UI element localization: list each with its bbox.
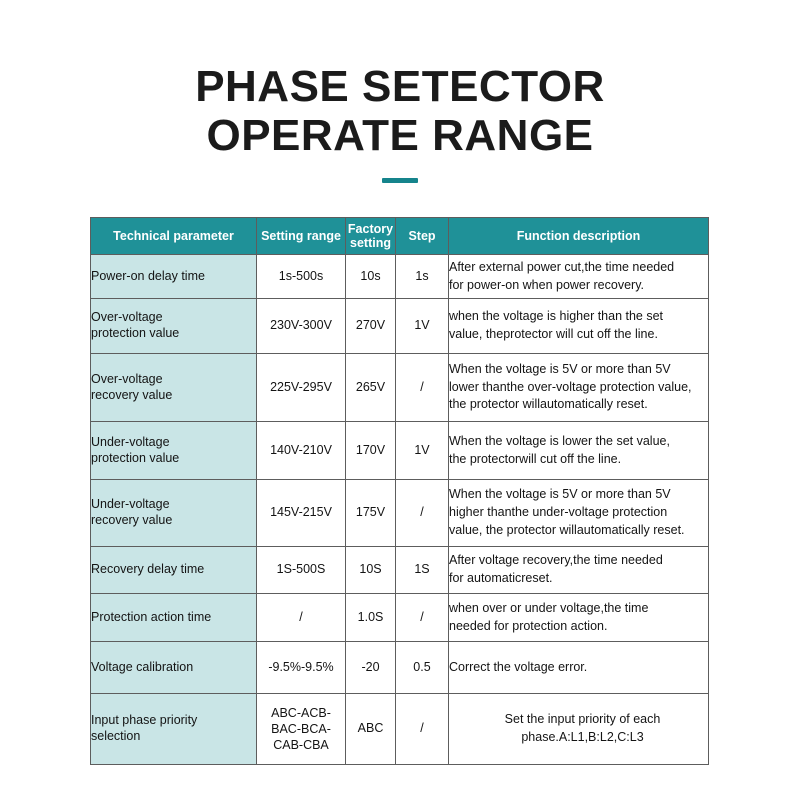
specification-table: Technical parameter Setting range Factor… bbox=[90, 217, 709, 765]
description-line-2: lower thanthe over-voltage protection va… bbox=[449, 379, 708, 397]
cell-description: When the voltage is lower the set value,… bbox=[449, 422, 709, 480]
cell-setting-range: 1S-500S bbox=[257, 547, 346, 594]
column-header-setting-range: Setting range bbox=[257, 218, 346, 255]
cell-step: / bbox=[396, 694, 449, 765]
setting-range-line-3: CAB-CBA bbox=[257, 737, 345, 753]
parameter-line-2: recovery value bbox=[91, 388, 256, 404]
description-line-1: Set the input priority of each bbox=[457, 711, 708, 729]
cell-parameter: Input phase priority selection bbox=[91, 694, 257, 765]
description-line-2: for power-on when power recovery. bbox=[449, 277, 708, 295]
parameter-line-2: selection bbox=[91, 729, 256, 745]
description-line-3: value, the protector willautomatically r… bbox=[449, 522, 708, 540]
cell-factory-setting: ABC bbox=[346, 694, 396, 765]
column-header-technical-parameter: Technical parameter bbox=[91, 218, 257, 255]
cell-parameter: Recovery delay time bbox=[91, 547, 257, 594]
setting-range-line-2: BAC-BCA- bbox=[257, 721, 345, 737]
description-line-2: phase.A:L1,B:L2,C:L3 bbox=[457, 729, 708, 747]
title-accent-bar bbox=[382, 178, 418, 183]
page-title-line-2: OPERATE RANGE bbox=[0, 111, 800, 160]
description-line-2: needed for protection action. bbox=[449, 618, 708, 636]
description-line-1: Correct the voltage error. bbox=[449, 659, 708, 677]
cell-description: Set the input priority of each phase.A:L… bbox=[449, 694, 709, 765]
cell-description: When the voltage is 5V or more than 5V l… bbox=[449, 354, 709, 422]
cell-step: 0.5 bbox=[396, 642, 449, 694]
cell-factory-setting: 265V bbox=[346, 354, 396, 422]
table-row: Under-voltage recovery value 145V-215V 1… bbox=[91, 480, 709, 547]
cell-description: Correct the voltage error. bbox=[449, 642, 709, 694]
table-body: Power-on delay time 1s-500s 10s 1s After… bbox=[91, 255, 709, 765]
table-row: Voltage calibration -9.5%-9.5% -20 0.5 C… bbox=[91, 642, 709, 694]
title-block: PHASE SETECTOR OPERATE RANGE bbox=[0, 0, 800, 183]
cell-step: 1V bbox=[396, 422, 449, 480]
table-row: Protection action time / 1.0S / when ove… bbox=[91, 594, 709, 642]
parameter-line-1: Under-voltage bbox=[91, 497, 256, 513]
cell-setting-range: 145V-215V bbox=[257, 480, 346, 547]
cell-step: / bbox=[396, 480, 449, 547]
cell-factory-setting: 10S bbox=[346, 547, 396, 594]
parameter-line-1: Over-voltage bbox=[91, 310, 256, 326]
table-row: Input phase priority selection ABC-ACB- … bbox=[91, 694, 709, 765]
cell-parameter: Under-voltage protection value bbox=[91, 422, 257, 480]
page-root: PHASE SETECTOR OPERATE RANGE Technical p… bbox=[0, 0, 800, 800]
description-line-1: when the voltage is higher than the set bbox=[449, 308, 708, 326]
parameter-line-2: protection value bbox=[91, 451, 256, 467]
cell-description: when the voltage is higher than the set … bbox=[449, 299, 709, 354]
description-line-3: the protector willautomatically reset. bbox=[449, 396, 708, 414]
parameter-line-1: Over-voltage bbox=[91, 372, 256, 388]
column-header-step: Step bbox=[396, 218, 449, 255]
cell-description: When the voltage is 5V or more than 5V h… bbox=[449, 480, 709, 547]
parameter-line-1: Input phase priority bbox=[91, 713, 256, 729]
page-title-line-1: PHASE SETECTOR bbox=[0, 62, 800, 111]
description-line-2: higher thanthe under-voltage protection bbox=[449, 504, 708, 522]
cell-factory-setting: 270V bbox=[346, 299, 396, 354]
parameter-line-1: Power-on delay time bbox=[91, 269, 256, 285]
cell-description: when over or under voltage,the time need… bbox=[449, 594, 709, 642]
cell-factory-setting: 10s bbox=[346, 255, 396, 299]
cell-parameter: Under-voltage recovery value bbox=[91, 480, 257, 547]
cell-step: 1s bbox=[396, 255, 449, 299]
description-line-2: for automaticreset. bbox=[449, 570, 708, 588]
description-line-2: value, theprotector will cut off the lin… bbox=[449, 326, 708, 344]
parameter-line-1: Protection action time bbox=[91, 610, 256, 626]
cell-setting-range: / bbox=[257, 594, 346, 642]
cell-setting-range: 1s-500s bbox=[257, 255, 346, 299]
description-line-1: After voltage recovery,the time needed bbox=[449, 552, 708, 570]
cell-setting-range: 225V-295V bbox=[257, 354, 346, 422]
cell-description: After external power cut,the time needed… bbox=[449, 255, 709, 299]
parameter-line-1: Under-voltage bbox=[91, 435, 256, 451]
table-header: Technical parameter Setting range Factor… bbox=[91, 218, 709, 255]
table-row: Under-voltage protection value 140V-210V… bbox=[91, 422, 709, 480]
cell-setting-range: 230V-300V bbox=[257, 299, 346, 354]
description-line-1: When the voltage is 5V or more than 5V bbox=[449, 361, 708, 379]
cell-setting-range: 140V-210V bbox=[257, 422, 346, 480]
cell-parameter: Power-on delay time bbox=[91, 255, 257, 299]
description-line-2: the protectorwill cut off the line. bbox=[449, 451, 708, 469]
description-line-1: When the voltage is lower the set value, bbox=[449, 433, 708, 451]
table-row: Over-voltage recovery value 225V-295V 26… bbox=[91, 354, 709, 422]
parameter-line-2: recovery value bbox=[91, 513, 256, 529]
column-header-factory-setting: Factory setting bbox=[346, 218, 396, 255]
table-row: Over-voltage protection value 230V-300V … bbox=[91, 299, 709, 354]
column-header-function-description: Function description bbox=[449, 218, 709, 255]
description-line-1: when over or under voltage,the time bbox=[449, 600, 708, 618]
cell-factory-setting: 175V bbox=[346, 480, 396, 547]
cell-parameter: Over-voltage protection value bbox=[91, 299, 257, 354]
column-header-factory-setting-line-1: Factory bbox=[346, 222, 395, 236]
cell-parameter: Protection action time bbox=[91, 594, 257, 642]
parameter-line-1: Recovery delay time bbox=[91, 562, 256, 578]
table-header-row: Technical parameter Setting range Factor… bbox=[91, 218, 709, 255]
cell-step: / bbox=[396, 354, 449, 422]
cell-setting-range: -9.5%-9.5% bbox=[257, 642, 346, 694]
description-line-1: After external power cut,the time needed bbox=[449, 259, 708, 277]
table-row: Power-on delay time 1s-500s 10s 1s After… bbox=[91, 255, 709, 299]
table-row: Recovery delay time 1S-500S 10S 1S After… bbox=[91, 547, 709, 594]
spec-table-wrapper: Technical parameter Setting range Factor… bbox=[90, 217, 708, 765]
cell-factory-setting: 1.0S bbox=[346, 594, 396, 642]
cell-step: 1V bbox=[396, 299, 449, 354]
cell-factory-setting: -20 bbox=[346, 642, 396, 694]
parameter-line-1: Voltage calibration bbox=[91, 660, 256, 676]
parameter-line-2: protection value bbox=[91, 326, 256, 342]
cell-step: 1S bbox=[396, 547, 449, 594]
cell-factory-setting: 170V bbox=[346, 422, 396, 480]
cell-parameter: Voltage calibration bbox=[91, 642, 257, 694]
column-header-factory-setting-line-2: setting bbox=[346, 236, 395, 250]
cell-setting-range: ABC-ACB- BAC-BCA- CAB-CBA bbox=[257, 694, 346, 765]
cell-parameter: Over-voltage recovery value bbox=[91, 354, 257, 422]
setting-range-line-1: ABC-ACB- bbox=[257, 705, 345, 721]
cell-step: / bbox=[396, 594, 449, 642]
description-line-1: When the voltage is 5V or more than 5V bbox=[449, 486, 708, 504]
cell-description: After voltage recovery,the time needed f… bbox=[449, 547, 709, 594]
